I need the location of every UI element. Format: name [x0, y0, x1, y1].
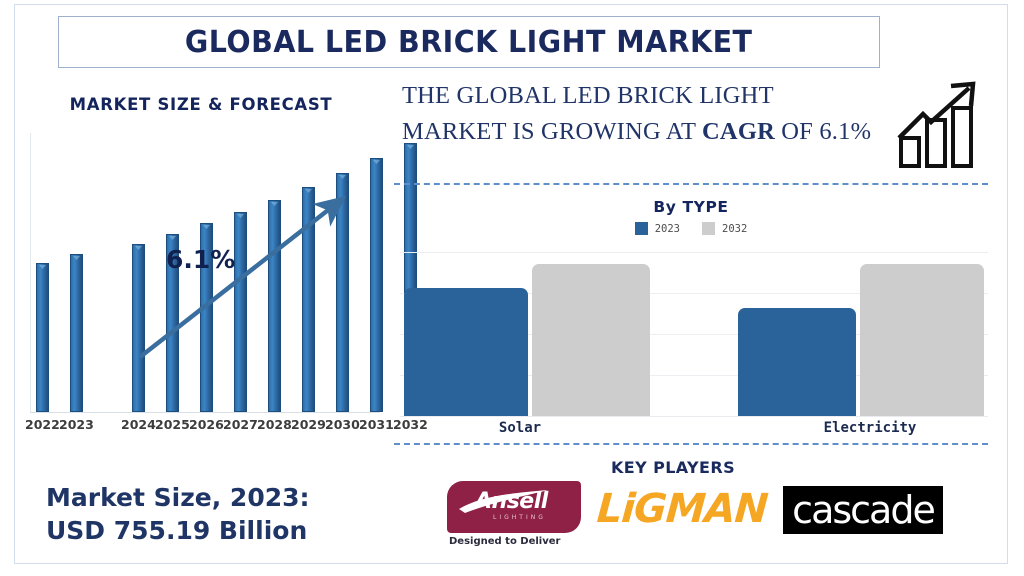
x-label-2025: 2025 — [155, 417, 189, 432]
market-size-forecast-chart: MARKET SIZE & FORECAST 2022 2023 2024 20… — [16, 95, 386, 445]
type-bar-electricity-2023 — [738, 308, 856, 416]
page-title: GLOBAL LED BRICK LIGHT MARKET — [185, 25, 753, 60]
type-bar-solar-2032 — [532, 264, 650, 416]
legend-swatch-2032 — [702, 222, 715, 235]
legend-swatch-2023 — [635, 222, 648, 235]
cagr-statement: THE GLOBAL LED BRICK LIGHT MARKET IS GRO… — [402, 78, 882, 150]
divider-dashed-top — [394, 183, 988, 185]
legend-item-2023: 2023 — [635, 222, 680, 235]
type-bar-solar-2023 — [404, 288, 528, 416]
type-bar-electricity-2032 — [860, 264, 984, 416]
left-chart-x-labels: 2022 2023 2024 2025 2026 2027 2028 2029 … — [22, 417, 380, 439]
statement-cagr: CAGR — [702, 118, 775, 145]
infographic-page: GLOBAL LED BRICK LIGHT MARKET MARKET SIZ… — [0, 0, 1024, 576]
left-chart-x-axis — [30, 412, 380, 413]
growth-bar-chart-arrow-icon — [893, 80, 993, 172]
bar-2024 — [132, 244, 145, 412]
x-label-2032: 2032 — [393, 417, 427, 432]
x-label-2031: 2031 — [359, 417, 393, 432]
x-label-2030: 2030 — [325, 417, 359, 432]
bar-2029 — [302, 187, 315, 412]
title-box: GLOBAL LED BRICK LIGHT MARKET — [58, 16, 880, 68]
logo-ligman: LiGMAN — [595, 486, 768, 532]
bar-2030 — [336, 173, 349, 412]
market-size-line1: Market Size, 2023: — [46, 481, 376, 514]
x-label-2024: 2024 — [121, 417, 155, 432]
left-chart-title: MARKET SIZE & FORECAST — [16, 95, 386, 114]
x-label-2023: 2023 — [59, 417, 93, 432]
divider-dashed-bottom — [394, 443, 988, 445]
bar-2028 — [268, 200, 281, 412]
bar-2031 — [370, 158, 383, 412]
type-chart-title: By TYPE — [394, 198, 988, 216]
key-players-title: KEY PLAYERS — [583, 458, 763, 477]
ansell-sub-label: LIGHTING — [493, 514, 546, 521]
type-chart-x-axis — [400, 416, 988, 417]
cagr-annotation: 6.1% — [166, 245, 235, 274]
bar-2027 — [234, 212, 247, 412]
market-size-callout: Market Size, 2023: USD 755.19 Billion — [46, 481, 376, 547]
left-chart-y-axis — [30, 133, 31, 413]
x-label-2029: 2029 — [291, 417, 325, 432]
logo-ansell: Ansell LIGHTING Designed to Deliver — [447, 481, 587, 553]
bar-2022 — [36, 263, 49, 412]
legend-label-2032: 2032 — [722, 223, 747, 235]
cagr-statement-text: THE GLOBAL LED BRICK LIGHT MARKET IS GRO… — [402, 78, 882, 150]
gridline-1 — [400, 252, 988, 253]
statement-part2: OF 6.1% — [775, 118, 871, 145]
x-label-2028: 2028 — [257, 417, 291, 432]
market-size-line2: USD 755.19 Billion — [46, 514, 376, 547]
type-category-solar: Solar — [460, 420, 580, 436]
x-label-2027: 2027 — [223, 417, 257, 432]
cascade-wordmark: cascade — [792, 491, 934, 529]
type-chart-legend: 2023 2032 — [394, 222, 988, 235]
type-chart-plot — [400, 252, 988, 416]
bar-2023 — [70, 254, 83, 412]
x-label-2022: 2022 — [25, 417, 59, 432]
x-label-2026: 2026 — [189, 417, 223, 432]
legend-item-2032: 2032 — [702, 222, 747, 235]
ansell-wordmark: Ansell — [475, 489, 548, 514]
logo-cascade: cascade — [783, 486, 943, 534]
legend-label-2023: 2023 — [655, 223, 680, 235]
ansell-tagline: Designed to Deliver — [449, 536, 560, 547]
type-category-electricity: Electricity — [800, 420, 940, 436]
